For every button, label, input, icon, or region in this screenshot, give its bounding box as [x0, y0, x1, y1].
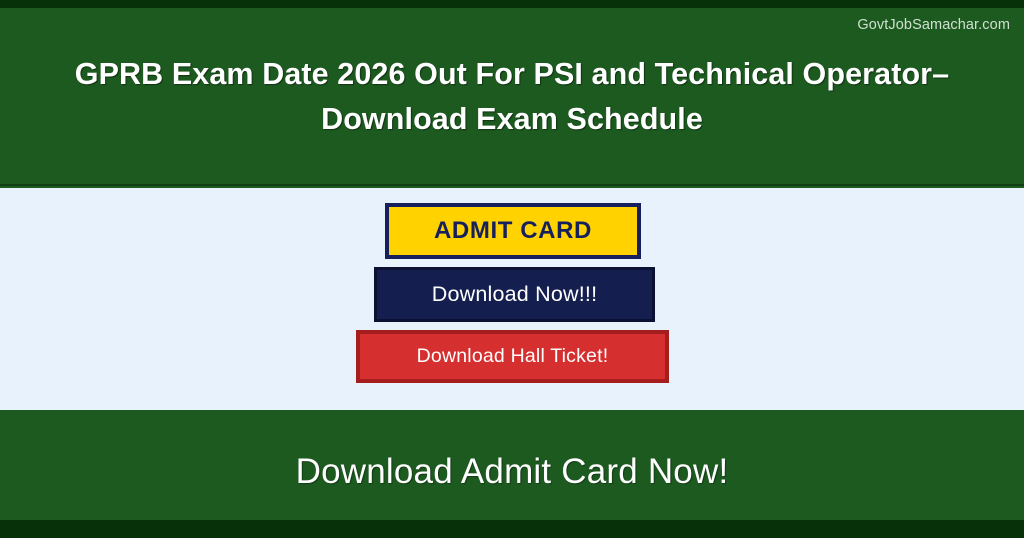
footer-band: Download Admit Card Now! — [0, 410, 1024, 520]
button-band: ADMIT CARD Download Now!!! Download Hall… — [0, 188, 1024, 410]
header-band: GovtJobSamachar.com GPRB Exam Date 2026 … — [0, 8, 1024, 186]
site-watermark: GovtJobSamachar.com — [857, 17, 1010, 33]
download-hall-ticket-button[interactable]: Download Hall Ticket! — [356, 330, 669, 383]
promo-banner: GovtJobSamachar.com GPRB Exam Date 2026 … — [0, 0, 1024, 538]
top-accent-strip — [0, 0, 1024, 8]
bottom-accent-strip — [0, 520, 1024, 538]
footer-cta-text: Download Admit Card Now! — [0, 452, 1024, 492]
download-now-button[interactable]: Download Now!!! — [374, 267, 655, 322]
page-title: GPRB Exam Date 2026 Out For PSI and Tech… — [62, 52, 962, 142]
admit-card-button[interactable]: ADMIT CARD — [385, 203, 641, 259]
